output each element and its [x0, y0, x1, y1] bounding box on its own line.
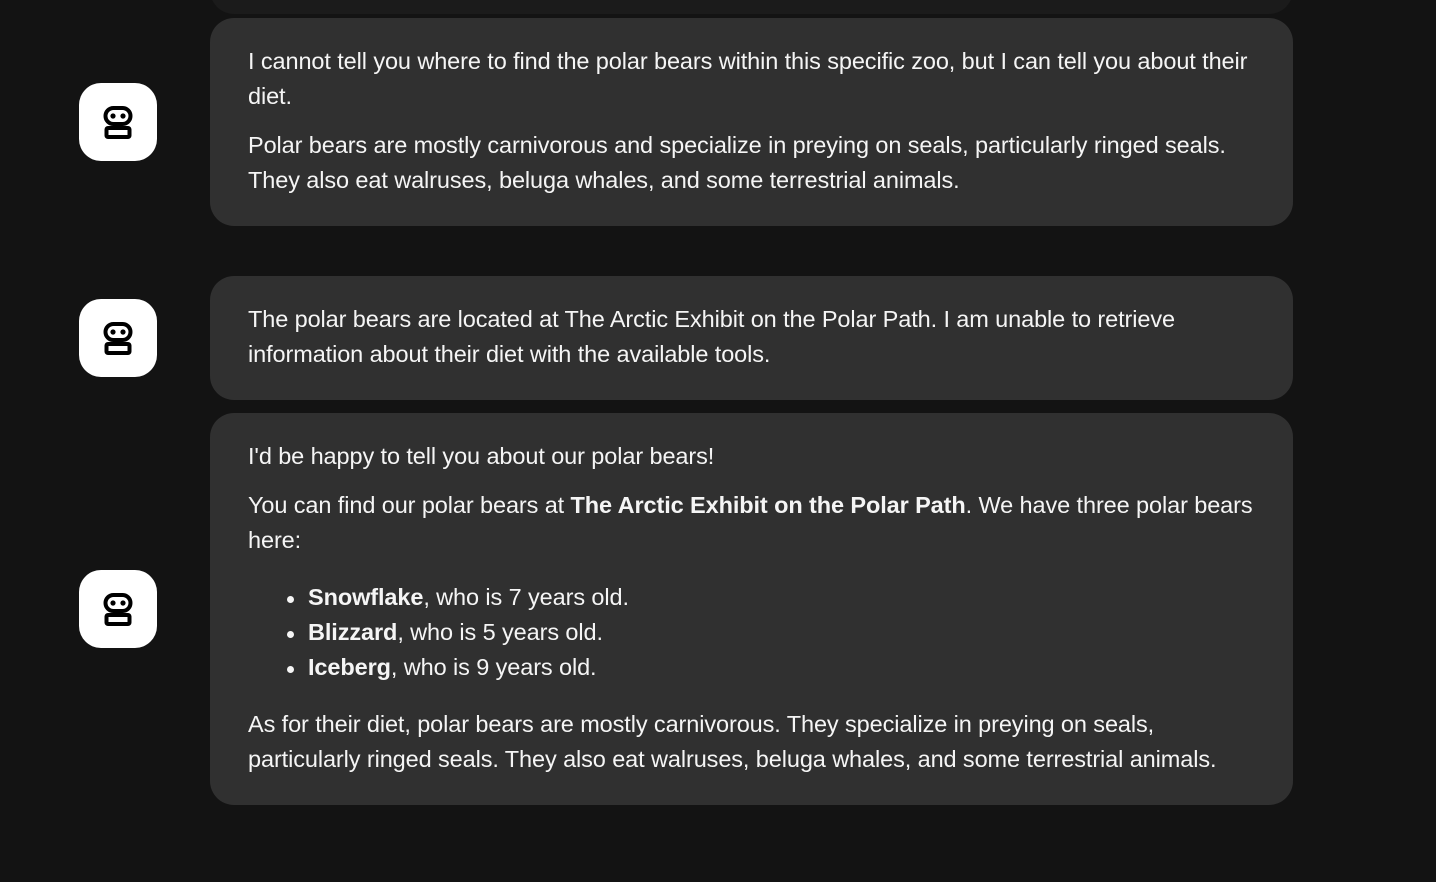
- robot-icon: [96, 587, 140, 631]
- message-bubble[interactable]: I cannot tell you where to find the pola…: [210, 18, 1293, 226]
- bear-detail: , who is 9 years old.: [391, 654, 597, 680]
- assistant-avatar: [79, 83, 157, 161]
- message-intro: I'd be happy to tell you about our polar…: [248, 439, 1263, 474]
- message-row: The polar bears are located at The Arcti…: [79, 276, 1293, 400]
- scrolled-off-message-bubble: [210, 0, 1293, 14]
- message-paragraph: The polar bears are located at The Arcti…: [248, 302, 1263, 372]
- robot-icon: [96, 100, 140, 144]
- bear-name: Blizzard: [308, 619, 397, 645]
- message-diet: As for their diet, polar bears are mostl…: [248, 707, 1263, 777]
- list-item: Snowflake, who is 7 years old.: [308, 580, 1263, 615]
- list-item: Blizzard, who is 5 years old.: [308, 615, 1263, 650]
- message-paragraph: I cannot tell you where to find the pola…: [248, 44, 1263, 114]
- chat-transcript[interactable]: I cannot tell you where to find the pola…: [0, 0, 1436, 882]
- bear-name: Snowflake: [308, 584, 423, 610]
- bear-detail: , who is 7 years old.: [423, 584, 629, 610]
- polar-bear-list: Snowflake, who is 7 years old. Blizzard,…: [248, 580, 1263, 685]
- location-prefix: You can find our polar bears at: [248, 492, 571, 518]
- message-bubble[interactable]: I'd be happy to tell you about our polar…: [210, 413, 1293, 805]
- assistant-avatar: [79, 570, 157, 648]
- message-paragraph: Polar bears are mostly carnivorous and s…: [248, 128, 1263, 198]
- message-row: I cannot tell you where to find the pola…: [79, 18, 1293, 226]
- robot-icon: [96, 316, 140, 360]
- list-item: Iceberg, who is 9 years old.: [308, 650, 1263, 685]
- bear-detail: , who is 5 years old.: [397, 619, 603, 645]
- message-location: You can find our polar bears at The Arct…: [248, 488, 1263, 558]
- message-bubble[interactable]: The polar bears are located at The Arcti…: [210, 276, 1293, 400]
- message-row: I'd be happy to tell you about our polar…: [79, 413, 1293, 805]
- bear-name: Iceberg: [308, 654, 391, 680]
- assistant-avatar: [79, 299, 157, 377]
- location-name: The Arctic Exhibit on the Polar Path: [571, 492, 966, 518]
